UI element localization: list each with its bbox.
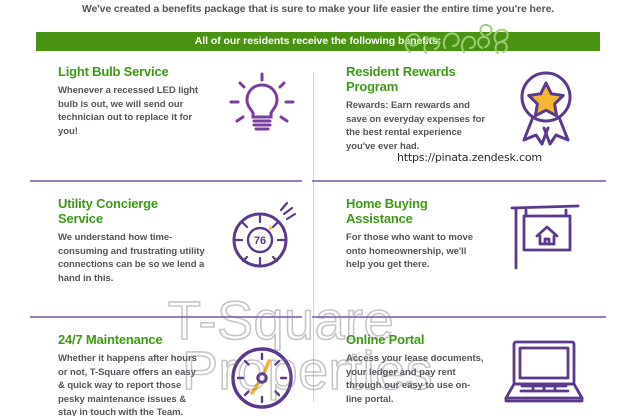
benefit-icon-slot — [486, 56, 606, 146]
utility-gauge-value: 76 — [253, 235, 265, 247]
lightbulb-icon — [225, 66, 299, 140]
benefit-card-home-buying-assistance: Home Buying Assistance For those who wan… — [318, 188, 606, 310]
benefit-card-utility-concierge-service: Utility Concierge Service We understand … — [30, 188, 318, 310]
benefit-title: Light Bulb Service — [58, 64, 205, 79]
benefits-row-2: Utility Concierge Service We understand … — [30, 188, 606, 310]
clock-icon — [220, 334, 304, 416]
benefit-body: For those who want to move onto homeowne… — [346, 231, 486, 272]
benefit-text-block: Home Buying Assistance For those who wan… — [318, 188, 486, 272]
benefits-grid: Light Bulb Service Whenever a recessed L… — [30, 56, 606, 416]
benefit-body: Access your lease documents, your ledger… — [346, 352, 486, 406]
benefit-text-block: Utility Concierge Service We understand … — [30, 188, 205, 285]
laptop-icon — [500, 334, 592, 406]
benefits-banner: All of our residents receive the followi… — [36, 32, 600, 51]
benefit-text-block: Light Bulb Service Whenever a recessed L… — [30, 56, 205, 138]
benefit-card-online-portal: Online Portal Access your lease document… — [318, 324, 606, 416]
utility-gauge-icon: 76 — [222, 198, 302, 278]
benefit-card-24-7-maintenance: 24/7 Maintenance Whether it happens afte… — [30, 324, 318, 416]
benefit-body: Whether it happens after hours or not, T… — [58, 352, 205, 416]
benefit-text-block: Resident Rewards Program Rewards: Earn r… — [318, 56, 486, 153]
benefit-body: We understand how time-consuming and fru… — [58, 231, 205, 285]
benefit-icon-slot: 76 — [205, 188, 318, 278]
column-divider — [313, 72, 314, 402]
zendesk-url-overlay[interactable]: https://pinata.zendesk.com — [396, 151, 543, 164]
benefit-icon-slot — [205, 56, 318, 140]
benefits-row-3: 24/7 Maintenance Whether it happens afte… — [30, 324, 606, 416]
for-sale-sign-icon — [504, 198, 588, 274]
benefit-title: Utility Concierge Service — [58, 196, 205, 226]
benefit-title: Resident Rewards Program — [346, 64, 486, 94]
benefit-title: Online Portal — [346, 332, 486, 347]
benefit-text-block: Online Portal Access your lease document… — [318, 324, 486, 406]
benefit-icon-slot — [486, 188, 606, 274]
benefits-flyer-page: We've created a benefits package that is… — [0, 0, 636, 416]
row-divider-2 — [30, 310, 606, 324]
award-medal-icon — [507, 66, 585, 146]
benefit-icon-slot — [205, 324, 318, 416]
row-divider-1 — [30, 174, 606, 188]
benefit-body: Rewards: Earn rewards and save on everyd… — [346, 99, 486, 153]
benefit-text-block: 24/7 Maintenance Whether it happens afte… — [30, 324, 205, 416]
benefit-body: Whenever a recessed LED light bulb is ou… — [58, 84, 205, 138]
benefit-card-light-bulb-service: Light Bulb Service Whenever a recessed L… — [30, 56, 318, 174]
intro-paragraph: We've created a benefits package that is… — [60, 2, 576, 16]
benefits-banner-label: All of our residents receive the followi… — [36, 35, 600, 47]
benefit-icon-slot — [486, 324, 606, 406]
benefit-title: Home Buying Assistance — [346, 196, 486, 226]
benefit-title: 24/7 Maintenance — [58, 332, 205, 347]
